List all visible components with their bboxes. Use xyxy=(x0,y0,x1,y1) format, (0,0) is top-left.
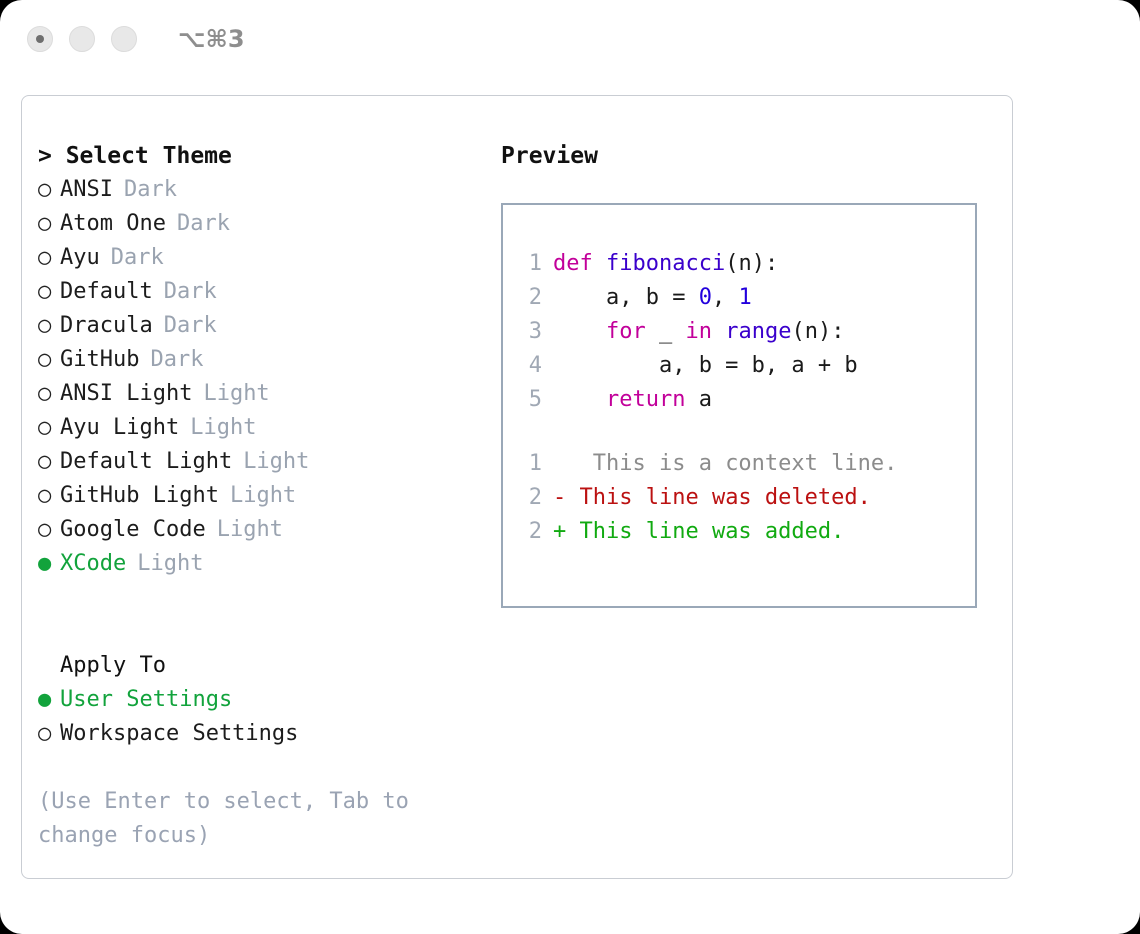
code-token-keyword: def xyxy=(553,251,606,276)
theme-name-label: Default xyxy=(60,275,153,309)
diff-line: 2+ This line was added. xyxy=(520,515,969,549)
line-number: 4 xyxy=(520,349,542,383)
line-number: 2 xyxy=(520,481,542,515)
theme-row[interactable]: ○AyuDark xyxy=(38,241,488,275)
theme-row[interactable]: ○Ayu LightLight xyxy=(38,411,488,445)
window-titlebar: ⌥⌘3 xyxy=(0,0,1140,78)
theme-variant-label: Dark xyxy=(164,309,217,343)
radio-unselected-icon[interactable]: ○ xyxy=(38,411,60,445)
theme-row[interactable]: ○ANSIDark xyxy=(38,173,488,207)
diff-sign xyxy=(553,451,566,476)
theme-variant-label: Light xyxy=(230,479,296,513)
theme-variant-label: Light xyxy=(243,445,309,479)
diff-sign: + xyxy=(553,519,566,544)
apply-to-row[interactable]: ●User Settings xyxy=(38,683,488,717)
line-number: 2 xyxy=(520,515,542,549)
radio-unselected-icon[interactable]: ○ xyxy=(38,275,60,309)
theme-name-label: XCode xyxy=(60,547,126,581)
radio-unselected-icon[interactable]: ○ xyxy=(38,173,60,207)
theme-row[interactable]: ●XCodeLight xyxy=(38,547,488,581)
line-number: 2 xyxy=(520,281,542,315)
diff-text: This line was deleted. xyxy=(566,485,871,510)
code-token-number: 1 xyxy=(738,285,751,310)
theme-variant-label: Light xyxy=(190,411,256,445)
radio-unselected-icon[interactable]: ○ xyxy=(38,513,60,547)
theme-row[interactable]: ○ANSI LightLight xyxy=(38,377,488,411)
code-token-plain: (n): xyxy=(791,319,844,344)
code-line: 4 a, b = b, a + b xyxy=(520,349,969,383)
theme-name-label: Ayu Light xyxy=(60,411,179,445)
line-number: 1 xyxy=(520,447,542,481)
theme-variant-label: Dark xyxy=(177,207,230,241)
terminal-theme-picker-window: ⌥⌘3 > Select Theme ○ANSIDark○Atom OneDar… xyxy=(0,0,1140,934)
theme-row[interactable]: ○DefaultDark xyxy=(38,275,488,309)
theme-name-label: Dracula xyxy=(60,309,153,343)
code-token-keyword: return xyxy=(606,387,685,412)
diff-text: This line was added. xyxy=(566,519,844,544)
code-token-plain xyxy=(553,387,606,412)
theme-variant-label: Light xyxy=(217,513,283,547)
theme-name-label: Ayu xyxy=(60,241,100,275)
theme-variant-label: Dark xyxy=(164,275,217,309)
diff-text: This is a context line. xyxy=(566,451,897,476)
code-line: 3 for _ in range(n): xyxy=(520,315,969,349)
theme-name-label: ANSI xyxy=(60,173,113,207)
radio-unselected-icon[interactable]: ○ xyxy=(38,309,60,343)
theme-row[interactable]: ○GitHubDark xyxy=(38,343,488,377)
code-line: 1def fibonacci(n): xyxy=(520,247,969,281)
window-dot-second-icon[interactable] xyxy=(69,26,95,52)
code-preview-area: 1def fibonacci(n):2 a, b = 0, 13 for _ i… xyxy=(520,247,969,549)
theme-name-label: Default Light xyxy=(60,445,232,479)
radio-unselected-icon[interactable]: ○ xyxy=(38,343,60,377)
theme-selection-column: > Select Theme ○ANSIDark○Atom OneDark○Ay… xyxy=(38,139,488,853)
theme-name-label: GitHub Light xyxy=(60,479,219,513)
theme-name-label: GitHub xyxy=(60,343,139,377)
code-diff-spacer xyxy=(520,417,969,447)
radio-unselected-icon[interactable]: ○ xyxy=(38,377,60,411)
keyboard-shortcut-label: ⌥⌘3 xyxy=(178,25,245,53)
preview-column: Preview 1def fibonacci(n):2 a, b = 0, 13… xyxy=(501,139,991,608)
code-token-plain xyxy=(712,319,725,344)
code-token-keyword: for xyxy=(606,319,646,344)
radio-selected-icon[interactable]: ● xyxy=(38,547,60,581)
theme-row[interactable]: ○DraculaDark xyxy=(38,309,488,343)
window-dot-active-inner xyxy=(36,35,44,43)
code-token-plain xyxy=(553,319,606,344)
code-token-function: range xyxy=(725,319,791,344)
line-number: 3 xyxy=(520,315,542,349)
preview-box: 1def fibonacci(n):2 a, b = 0, 13 for _ i… xyxy=(501,203,977,608)
radio-selected-icon[interactable]: ● xyxy=(38,683,60,717)
diff-line: 2- This line was deleted. xyxy=(520,481,969,515)
code-token-keyword: in xyxy=(685,319,712,344)
code-line: 5 return a xyxy=(520,383,969,417)
diff-sign: - xyxy=(553,485,566,510)
apply-to-label: User Settings xyxy=(60,683,232,717)
theme-row[interactable]: ○GitHub LightLight xyxy=(38,479,488,513)
apply-to-heading: Apply To xyxy=(60,649,488,683)
select-theme-heading: > Select Theme xyxy=(38,139,488,173)
radio-unselected-icon[interactable]: ○ xyxy=(38,717,60,751)
preview-heading: Preview xyxy=(501,139,991,173)
syntax-sample-block: 1def fibonacci(n):2 a, b = 0, 13 for _ i… xyxy=(520,247,969,417)
code-token-plain: a, b = b, a + b xyxy=(553,353,858,378)
code-line: 2 a, b = 0, 1 xyxy=(520,281,969,315)
code-token-plain: _ xyxy=(646,319,686,344)
theme-name-label: ANSI Light xyxy=(60,377,192,411)
theme-row[interactable]: ○Atom OneDark xyxy=(38,207,488,241)
window-dot-third-icon[interactable] xyxy=(111,26,137,52)
theme-row[interactable]: ○Default LightLight xyxy=(38,445,488,479)
diff-sample-block: 1 This is a context line.2- This line wa… xyxy=(520,447,969,549)
code-token-number: 0 xyxy=(699,285,712,310)
theme-variant-label: Light xyxy=(137,547,203,581)
theme-name-label: Google Code xyxy=(60,513,206,547)
theme-list[interactable]: ○ANSIDark○Atom OneDark○AyuDark○DefaultDa… xyxy=(38,173,488,581)
apply-to-list[interactable]: ●User Settings○Workspace Settings xyxy=(38,683,488,751)
code-token-function: fibonacci xyxy=(606,251,725,276)
main-panel: > Select Theme ○ANSIDark○Atom OneDark○Ay… xyxy=(21,95,1013,879)
apply-to-row[interactable]: ○Workspace Settings xyxy=(38,717,488,751)
theme-variant-label: Light xyxy=(203,377,269,411)
code-token-plain: a, b = xyxy=(553,285,699,310)
apply-to-section: Apply To ●User Settings○Workspace Settin… xyxy=(38,649,488,751)
diff-line: 1 This is a context line. xyxy=(520,447,969,481)
line-number: 1 xyxy=(520,247,542,281)
theme-variant-label: Dark xyxy=(150,343,203,377)
theme-variant-label: Dark xyxy=(124,173,177,207)
radio-unselected-icon[interactable]: ○ xyxy=(38,479,60,513)
code-token-plain: a xyxy=(685,387,712,412)
code-token-plain: (n): xyxy=(725,251,778,276)
window-dot-active-icon[interactable] xyxy=(27,26,53,52)
theme-variant-label: Dark xyxy=(111,241,164,275)
theme-row[interactable]: ○Google CodeLight xyxy=(38,513,488,547)
radio-unselected-icon[interactable]: ○ xyxy=(38,445,60,479)
theme-name-label: Atom One xyxy=(60,207,166,241)
window-controls xyxy=(27,26,137,52)
radio-unselected-icon[interactable]: ○ xyxy=(38,207,60,241)
line-number: 5 xyxy=(520,383,542,417)
code-token-plain: , xyxy=(712,285,739,310)
keyboard-hint-text: (Use Enter to select, Tab to change focu… xyxy=(38,785,448,853)
radio-unselected-icon[interactable]: ○ xyxy=(38,241,60,275)
apply-to-label: Workspace Settings xyxy=(60,717,298,751)
